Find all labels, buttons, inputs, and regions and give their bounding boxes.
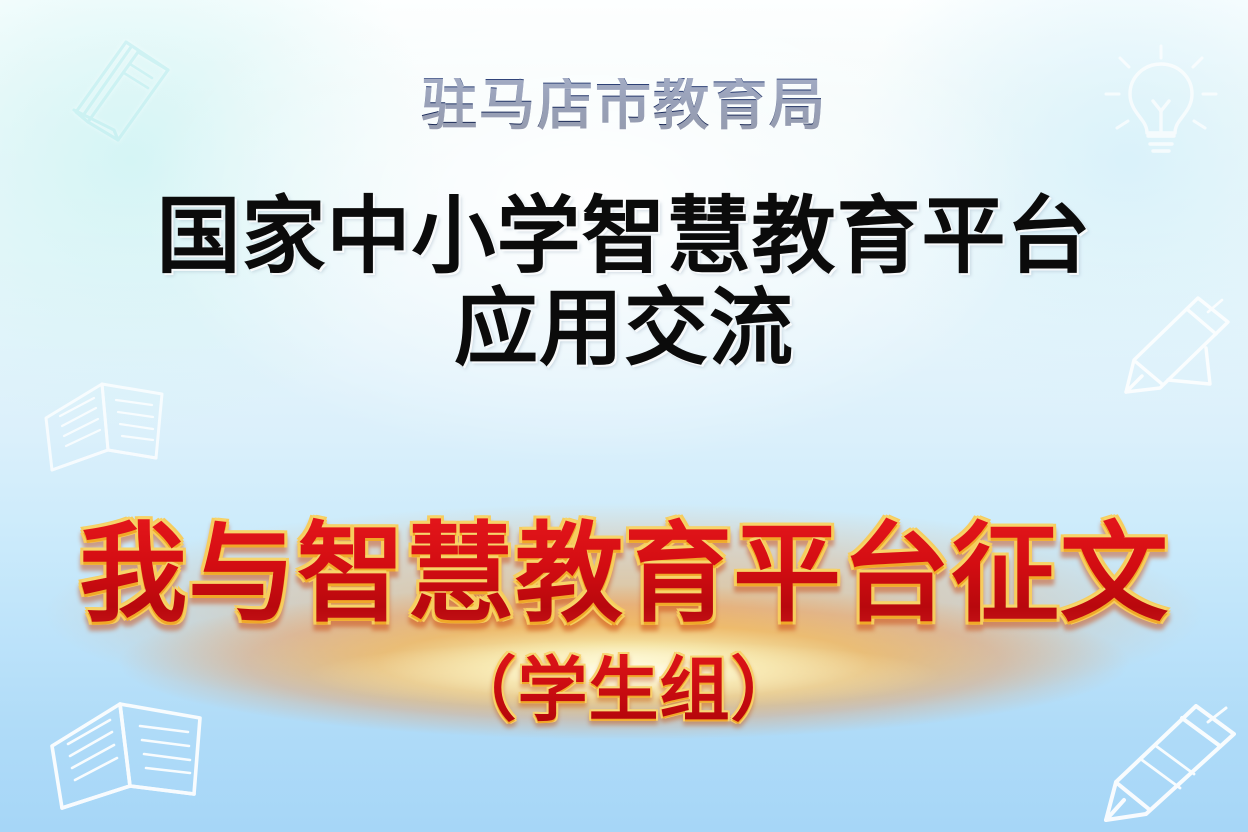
main-title-line-2: 应用交流	[0, 282, 1248, 374]
headline-container: 我与智慧教育平台征文	[0, 516, 1248, 633]
page-title: 国家中小学智慧教育平台 应用交流	[0, 190, 1248, 375]
main-title-line-1: 国家中小学智慧教育平台	[0, 190, 1248, 282]
headline-text: 我与智慧教育平台征文	[79, 516, 1169, 633]
poster-canvas: 驻马店市教育局 国家中小学智慧教育平台 应用交流 我与智慧教育平台征文 （学生组…	[0, 0, 1248, 832]
open-book-icon	[36, 372, 176, 476]
subtitle-container: （学生组）	[0, 652, 1248, 729]
subtitle-text: （学生组）	[447, 652, 802, 729]
organization-title: 驻马店市教育局	[0, 78, 1248, 134]
